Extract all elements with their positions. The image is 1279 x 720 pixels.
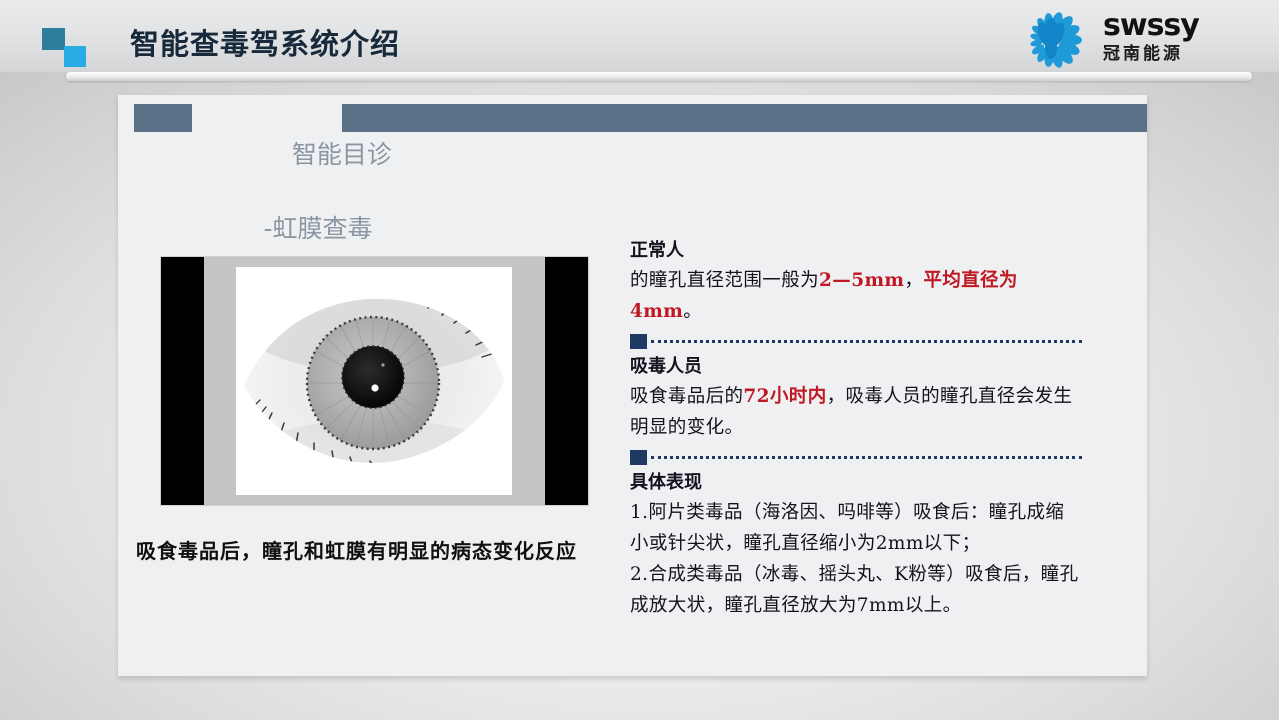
brand-subtitle: 冠南能源 [1103,43,1255,65]
divider-dots [651,340,1082,343]
section-title-line2: -虹膜查毒 [198,210,438,247]
header-divider-rule [66,72,1252,81]
list-part: 。 [943,595,962,616]
body-part: ， [904,270,923,291]
divider-knob-icon [630,450,647,465]
body-part: 的瞳孔直径范围一般为 [630,270,819,291]
list-part: ； [962,533,981,554]
section-title-bar [342,104,1147,132]
text-block-manifestations: 具体表现 1.阿片类毒品（海洛因、吗啡等）吸食后：瞳孔成缩小或针尖状，瞳孔直径缩… [630,470,1082,621]
section-divider [630,447,1082,467]
block-heading: 正常人 [630,238,1082,264]
text-block-normal: 正常人 的瞳孔直径范围一般为2—5mm，平均直径为4mm。 [630,238,1082,327]
block-body: 的瞳孔直径范围一般为2—5mm，平均直径为4mm。 [630,265,1082,327]
content-column: 正常人 的瞳孔直径范围一般为2—5mm，平均直径为4mm。 吸毒人员 吸食毒品后… [630,238,1082,621]
page-title: 智能查毒驾系统介绍 [130,21,400,63]
list-part-highlight: 放大为7mm以上 [800,595,943,616]
body-part-highlight: 2—5mm [819,270,904,291]
brand-logo: swssy 冠南能源 [1007,8,1257,72]
header-logo-squares [42,28,92,66]
water-droplet-radial-icon [1007,10,1095,70]
square-dark-teal-icon [42,28,65,50]
list-part-highlight: 缩小为2mm以下 [819,533,962,554]
slide-viewer: 智能查毒驾系统介绍 [0,0,1279,720]
section-title: 智能目诊 -虹膜查毒 [198,99,438,321]
letterbox-bar-right [545,257,588,505]
section-title-block [134,104,192,132]
list-item: 2.合成类毒品（冰毒、摇头丸、K粉等）吸食后，瞳孔成放大状，瞳孔直径放大为7mm… [630,559,1082,621]
section-title-line1: 智能目诊 [292,140,392,169]
list-item-number: 1. [630,502,648,523]
body-part: 。 [683,301,702,322]
figure-caption: 吸食毒品后，瞳孔和虹膜有明显的病态变化反应 [136,535,636,564]
section-divider [630,331,1082,351]
brand-text: swssy 冠南能源 [1103,10,1255,65]
block-heading: 具体表现 [630,470,1082,496]
brand-name: swssy [1103,10,1255,42]
square-cyan-icon [64,46,86,67]
block-heading: 吸毒人员 [630,354,1082,380]
body-part-highlight: 72小时内 [743,386,826,407]
list-part-highlight: 合成类毒品（冰毒、摇头丸、K粉等） [648,564,965,585]
list-item: 1.阿片类毒品（海洛因、吗啡等）吸食后：瞳孔成缩小或针尖状，瞳孔直径缩小为2mm… [630,497,1082,559]
slide-content: 智能目诊 -虹膜查毒 [118,95,1147,676]
list-item-number: 2. [630,564,648,585]
body-part: 吸食毒品后的 [630,386,743,407]
divider-dots [651,456,1082,459]
page-header: 智能查毒驾系统介绍 [0,0,1279,72]
block-body: 吸食毒品后的72小时内，吸毒人员的瞳孔直径会发生明显的变化。 [630,381,1082,443]
text-block-drug-user: 吸毒人员 吸食毒品后的72小时内，吸毒人员的瞳孔直径会发生明显的变化。 [630,354,1082,443]
list-part-highlight: 阿片类毒品（海洛因、吗啡等） [648,502,913,523]
divider-knob-icon [630,334,647,349]
